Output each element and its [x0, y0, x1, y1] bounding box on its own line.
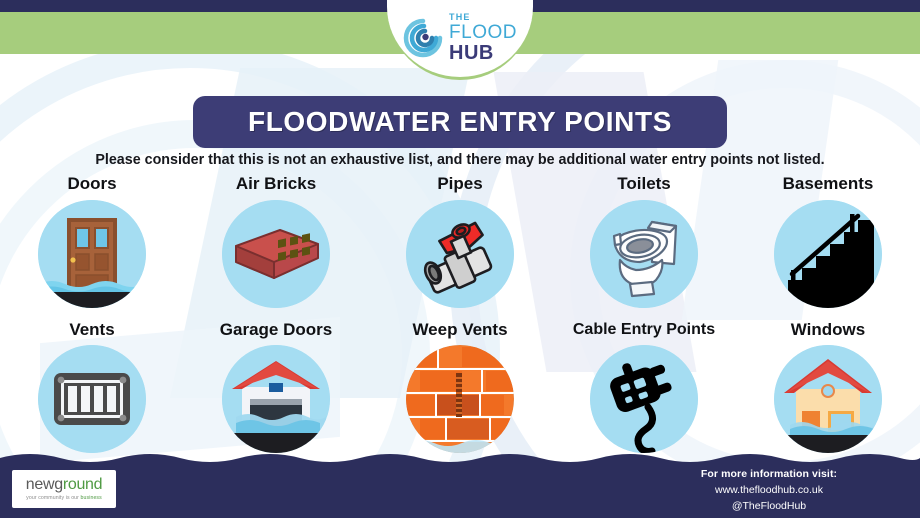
entry-points-row-1: Doors [0, 172, 920, 308]
electrical-plug-icon [590, 345, 698, 453]
page-subtitle: Please consider that this is not an exha… [0, 152, 920, 168]
entry-point-label: Vents [69, 318, 114, 344]
entry-point-pipes: Pipes [368, 172, 552, 308]
newground-tagline-a: your community is our [26, 495, 80, 501]
footer-info-heading: For more information visit: [634, 468, 904, 480]
infographic-poster: THE FLOOD HUB FLOODWATER ENTRY POINTS Pl… [0, 0, 920, 518]
newground-logo-word: newground [26, 477, 103, 493]
newground-tagline-b: business [81, 495, 102, 501]
footer-bar: newground your community is our business… [0, 462, 920, 518]
entry-point-weep-vents: Weep Vents [368, 318, 552, 453]
entry-point-label: Pipes [437, 172, 482, 198]
newground-tagline: your community is our business [26, 496, 102, 501]
garage-door-icon [222, 345, 330, 453]
house-window-icon [774, 345, 882, 453]
entry-point-toilets: Toilets [552, 172, 736, 308]
footer-website-link[interactable]: www.thefloodhub.co.uk [634, 484, 904, 496]
door-icon [38, 200, 146, 308]
page-title: FLOODWATER ENTRY POINTS [193, 96, 727, 148]
entry-points-row-2: Vents [0, 318, 920, 453]
logo-flood-text: FLOOD [449, 23, 517, 42]
entry-point-label: Air Bricks [236, 172, 316, 198]
entry-point-air-bricks: Air Bricks [184, 172, 368, 308]
entry-point-label: Toilets [617, 172, 671, 198]
entry-point-label: Cable Entry Points [573, 318, 715, 344]
entry-point-windows: Windows [736, 318, 920, 453]
entry-points-grid: Doors [0, 172, 920, 453]
basement-stairs-icon [774, 200, 882, 308]
pipe-valve-icon [406, 200, 514, 308]
entry-point-label: Garage Doors [220, 318, 332, 344]
footer-social-handle[interactable]: @TheFloodHub [634, 500, 904, 512]
newground-word-part-a: newg [26, 476, 63, 493]
newground-logo: newground your community is our business [12, 470, 116, 508]
entry-point-garage-doors: Garage Doors [184, 318, 368, 453]
footer-contact-info: For more information visit: www.theflood… [634, 468, 904, 512]
entry-point-label: Weep Vents [412, 318, 507, 344]
entry-point-vents: Vents [0, 318, 184, 453]
air-brick-icon [222, 200, 330, 308]
weep-vent-brickwork-icon [406, 345, 514, 453]
page-title-text: FLOODWATER ENTRY POINTS [248, 106, 672, 138]
logo-the-text: THE [449, 13, 517, 22]
entry-point-cable-entry-points: Cable Entry Points [552, 318, 736, 453]
entry-point-basements: Basements [736, 172, 920, 308]
logo-hub-text: HUB [449, 43, 517, 63]
toilet-icon [590, 200, 698, 308]
footer-wave-divider [0, 448, 920, 462]
vent-grille-icon [38, 345, 146, 453]
entry-point-doors: Doors [0, 172, 184, 308]
flood-hub-spiral-logo-icon [403, 18, 443, 58]
newground-word-part-b: round [63, 476, 102, 493]
entry-point-label: Basements [783, 172, 874, 198]
entry-point-label: Windows [791, 318, 865, 344]
entry-point-label: Doors [67, 172, 116, 198]
